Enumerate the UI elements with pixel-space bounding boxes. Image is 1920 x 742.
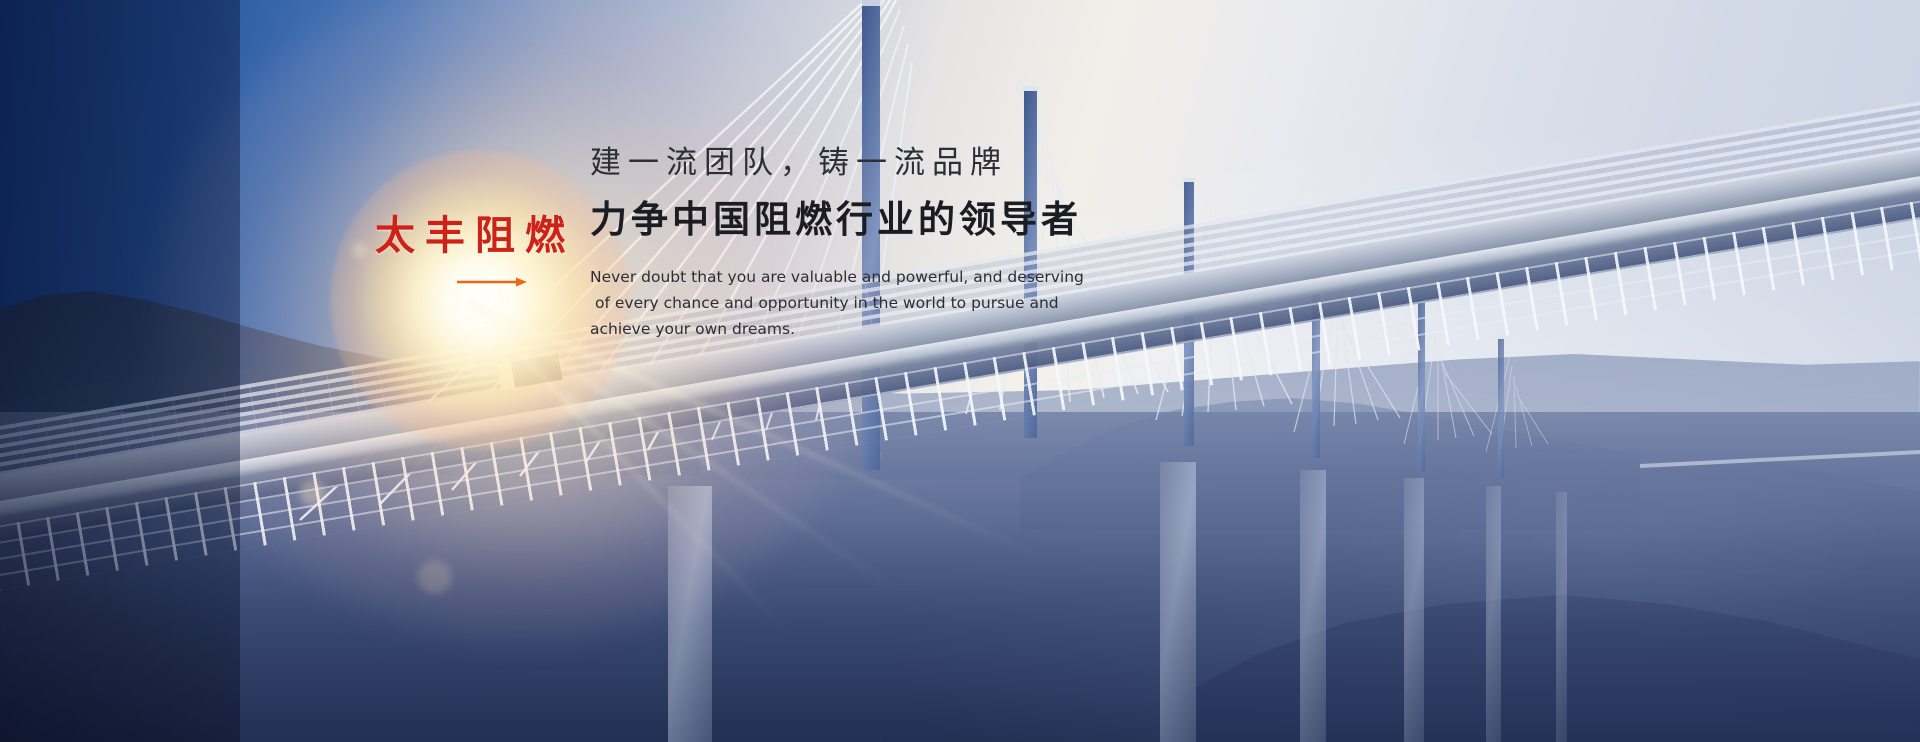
lens-flare-dot [352, 242, 368, 258]
bottom-shadow-overlay [0, 520, 1920, 742]
headline-main: 力争中国阻燃行业的领导者 [590, 201, 1110, 238]
blurb-line-3: achieve your own dreams. [590, 316, 1060, 342]
bridge-pylon [1498, 336, 1504, 478]
lens-flare-dot [300, 480, 326, 506]
pylon-cap [1183, 178, 1195, 182]
hero-copy: 建一流团队，铸一流品牌 力争中国阻燃行业的领导者 Never doubt tha… [590, 148, 1110, 342]
sun-icon [330, 150, 630, 450]
brand-logo-text: 太丰阻燃 [375, 216, 575, 256]
right-arrow-icon [457, 276, 529, 288]
blurb-line-2: of every chance and opportunity in the w… [590, 290, 1060, 316]
hero-blurb: Never doubt that you are valuable and po… [590, 264, 1060, 342]
brand-logo[interactable]: 太丰阻燃 [375, 216, 575, 256]
headline-sub: 建一流团队，铸一流品牌 [590, 148, 1110, 179]
pylon-cap [1023, 86, 1038, 91]
lens-flare-dot [560, 392, 580, 412]
pylon-cap [861, 0, 881, 6]
hero-banner: 太丰阻燃 建一流团队，铸一流品牌 力争中国阻燃行业的领导者 Never doub… [0, 0, 1920, 742]
blurb-line-1: Never doubt that you are valuable and po… [590, 264, 1060, 290]
